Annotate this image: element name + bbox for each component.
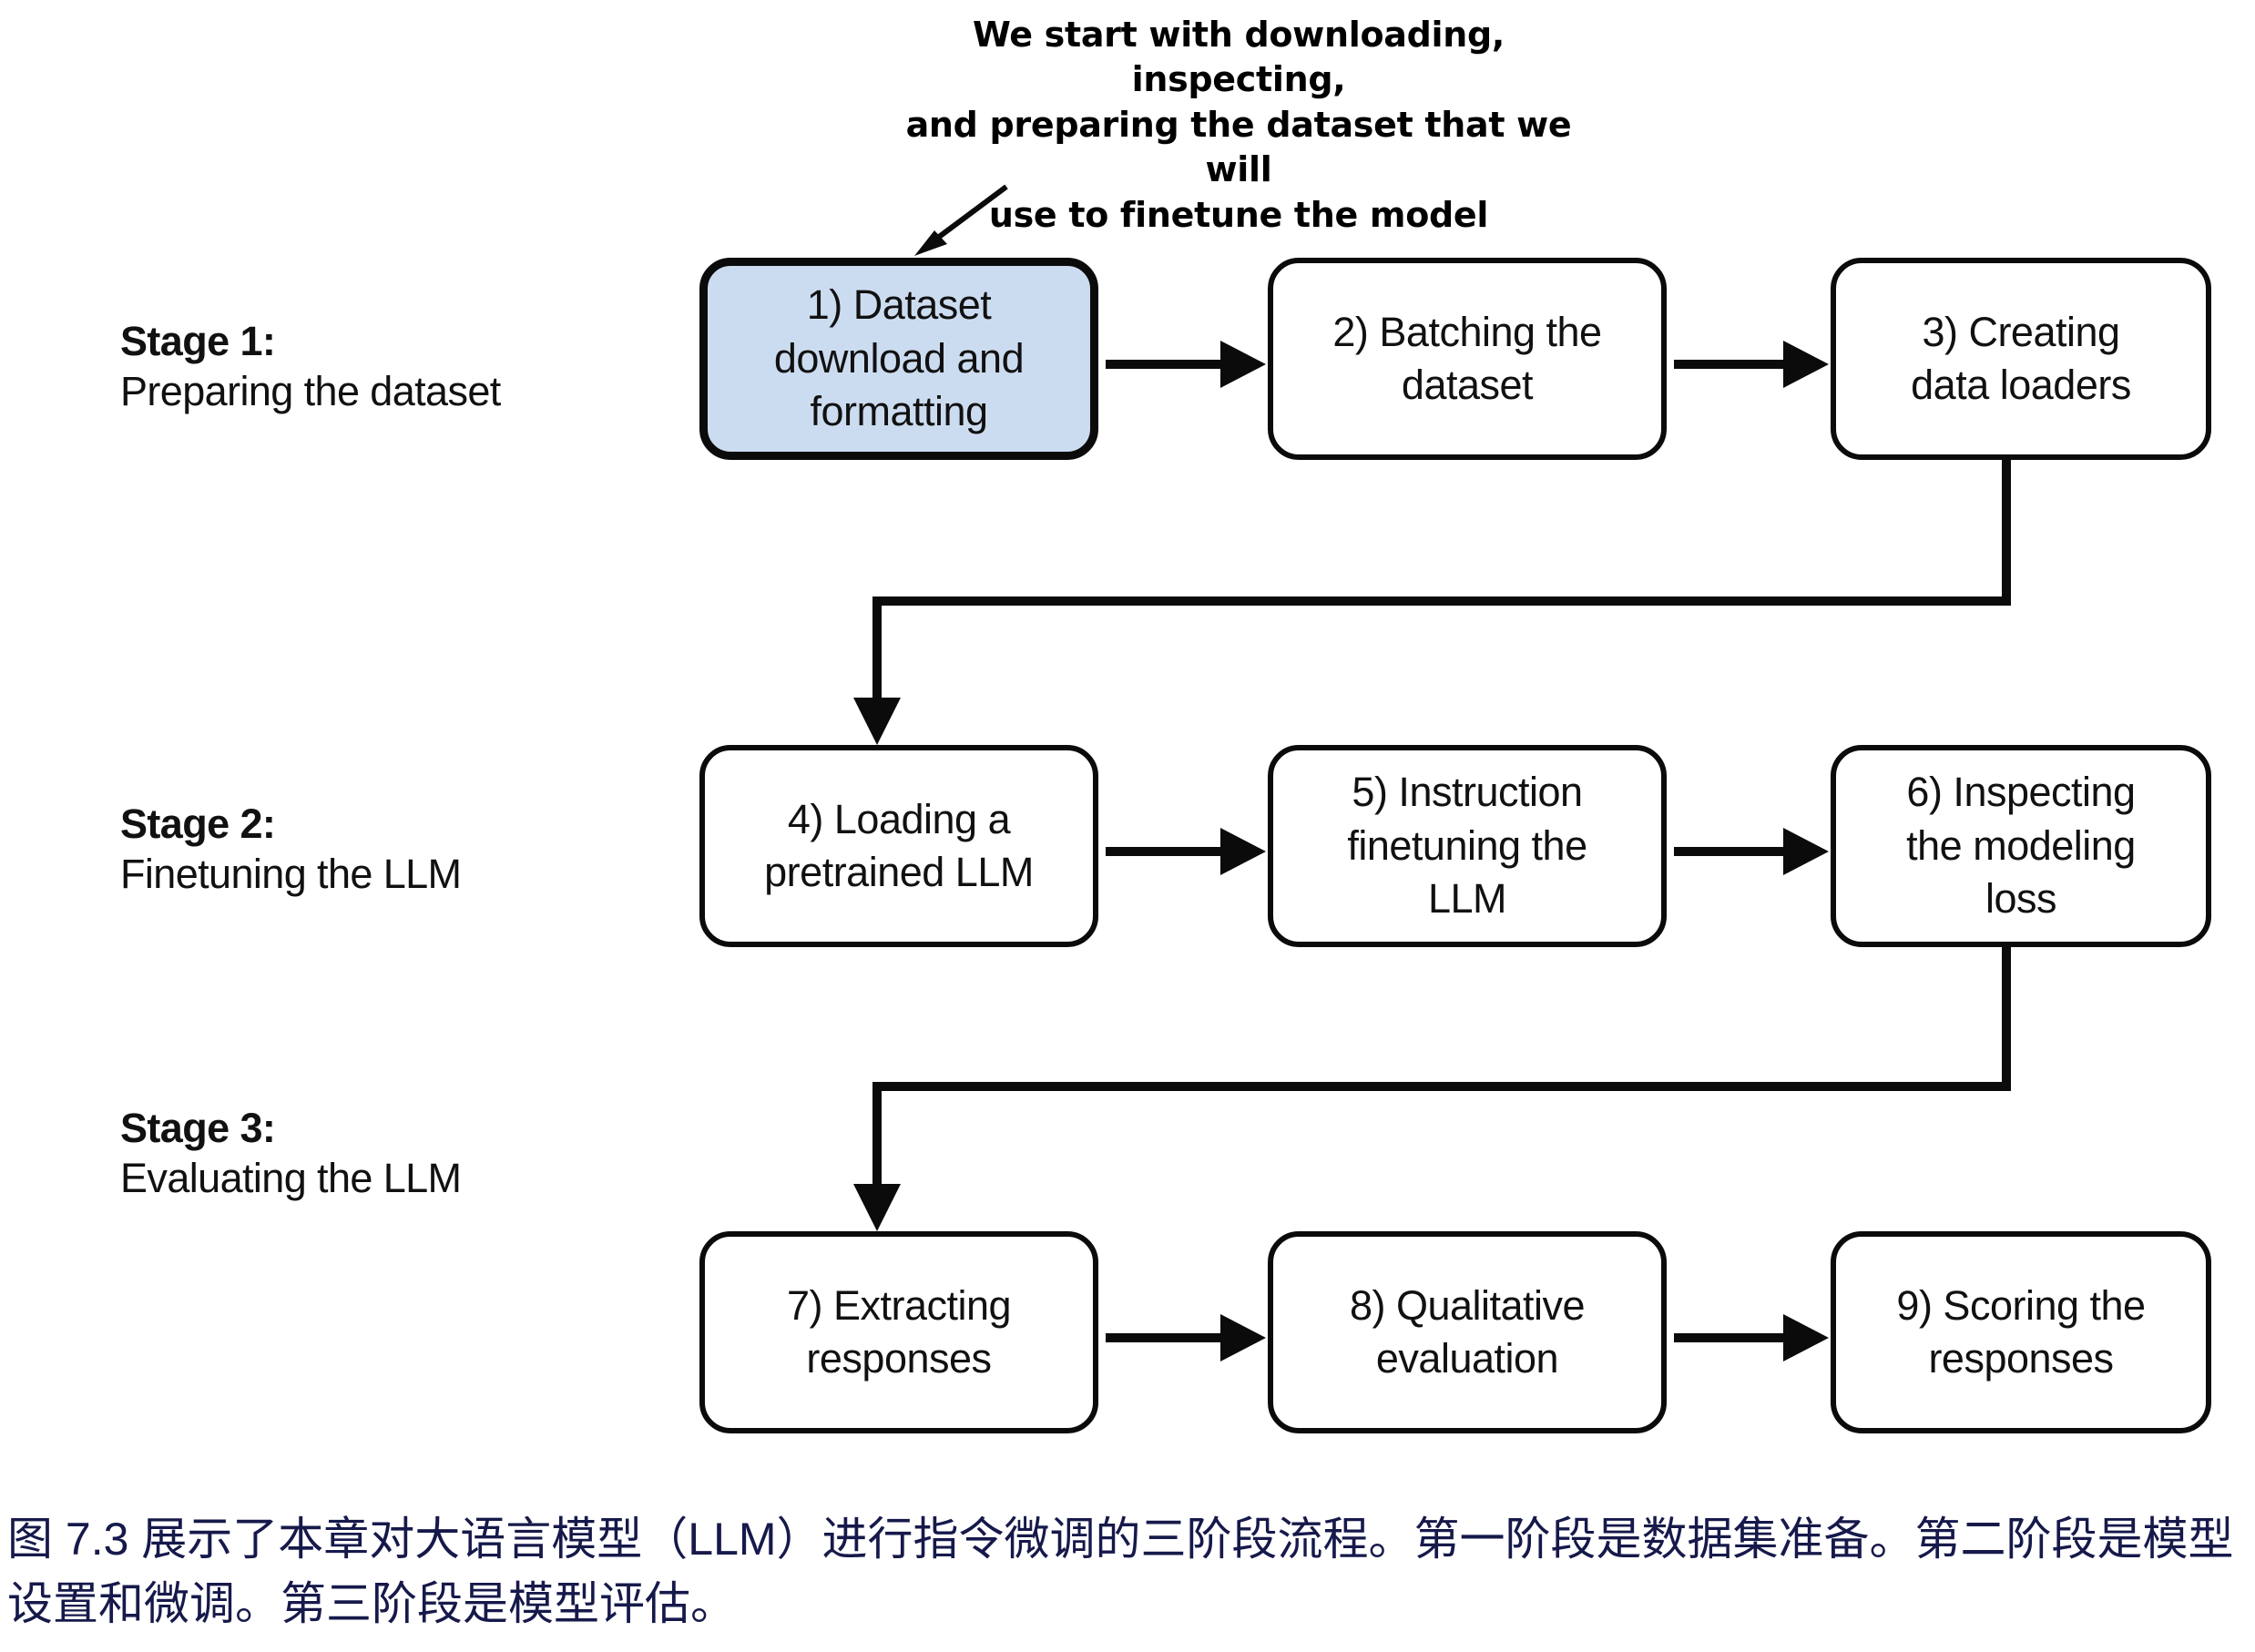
stage-3-subtitle: Evaluating the LLM	[120, 1154, 685, 1204]
step-box-2-line-2: dataset	[1332, 359, 1601, 413]
step-box-1[interactable]: 1) Dataset download and formatting	[699, 258, 1098, 460]
step-box-4[interactable]: 4) Loading a pretrained LLM	[699, 745, 1098, 947]
step-box-6-text: 6) Inspecting the modeling loss	[1906, 766, 2136, 926]
step-box-3-text: 3) Creating data loaders	[1911, 306, 2131, 413]
stage-label-1: Stage 1: Preparing the dataset	[120, 317, 685, 417]
step-box-4-line-1: 4) Loading a	[764, 793, 1034, 847]
step-box-3-line-2: data loaders	[1911, 359, 2131, 413]
step-box-6-line-1: 6) Inspecting	[1906, 766, 2136, 820]
step-box-7[interactable]: 7) Extracting responses	[699, 1231, 1098, 1433]
callout-note-line-1: We start with downloading, inspecting,	[874, 13, 1603, 103]
step-box-5[interactable]: 5) Instruction finetuning the LLM	[1268, 745, 1667, 947]
figure-caption: 图 7.3 展示了本章对大语言模型（LLM）进行指令微调的三阶段流程。第一阶段是…	[7, 1507, 2248, 1637]
step-box-3-line-1: 3) Creating	[1911, 306, 2131, 360]
step-box-1-line-1: 1) Dataset	[774, 279, 1024, 332]
callout-note-line-3: use to finetune the model	[874, 193, 1603, 238]
step-box-6-line-2: the modeling	[1906, 820, 2136, 873]
arrow-step4-to-step5	[1106, 828, 1266, 875]
step-box-2-text: 2) Batching the dataset	[1332, 306, 1601, 413]
step-box-9-line-2: responses	[1896, 1332, 2145, 1386]
step-box-1-text: 1) Dataset download and formatting	[774, 279, 1024, 439]
arrow-step8-to-step9	[1674, 1314, 1829, 1361]
step-box-8-line-1: 8) Qualitative	[1350, 1280, 1585, 1333]
step-box-1-line-3: formatting	[774, 385, 1024, 439]
stage-2-title: Stage 2:	[120, 800, 685, 850]
step-box-3[interactable]: 3) Creating data loaders	[1831, 258, 2211, 460]
arrow-step3-to-step4	[853, 460, 2006, 745]
step-box-8-line-2: evaluation	[1350, 1332, 1585, 1386]
step-box-9[interactable]: 9) Scoring the responses	[1831, 1231, 2211, 1433]
stage-label-3: Stage 3: Evaluating the LLM	[120, 1104, 685, 1204]
arrow-step2-to-step3	[1674, 341, 1829, 388]
step-box-8-text: 8) Qualitative evaluation	[1350, 1280, 1585, 1386]
step-box-4-line-2: pretrained LLM	[764, 846, 1034, 900]
arrow-step6-to-step7	[853, 947, 2006, 1231]
callout-note-line-2: and preparing the dataset that we will	[874, 103, 1603, 193]
step-box-8[interactable]: 8) Qualitative evaluation	[1268, 1231, 1667, 1433]
stage-3-title: Stage 3:	[120, 1104, 685, 1154]
step-box-5-line-2: finetuning the	[1347, 820, 1587, 873]
arrow-step7-to-step8	[1106, 1314, 1266, 1361]
arrow-step5-to-step6	[1674, 828, 1829, 875]
step-box-7-line-2: responses	[787, 1332, 1011, 1386]
step-box-6[interactable]: 6) Inspecting the modeling loss	[1831, 745, 2211, 947]
step-box-5-line-1: 5) Instruction	[1347, 766, 1587, 820]
step-box-2-line-1: 2) Batching the	[1332, 306, 1601, 360]
arrow-step1-to-step2	[1106, 341, 1266, 388]
step-box-5-text: 5) Instruction finetuning the LLM	[1347, 766, 1587, 926]
step-box-7-text: 7) Extracting responses	[787, 1280, 1011, 1386]
step-box-2[interactable]: 2) Batching the dataset	[1268, 258, 1667, 460]
step-box-6-line-3: loss	[1906, 872, 2136, 926]
step-box-1-line-2: download and	[774, 332, 1024, 386]
step-box-9-line-1: 9) Scoring the	[1896, 1280, 2145, 1333]
stage-1-subtitle: Preparing the dataset	[120, 367, 685, 417]
stage-2-subtitle: Finetuning the LLM	[120, 850, 685, 900]
step-box-7-line-1: 7) Extracting	[787, 1280, 1011, 1333]
callout-note: We start with downloading, inspecting, a…	[874, 13, 1603, 238]
stage-label-2: Stage 2: Finetuning the LLM	[120, 800, 685, 900]
step-box-9-text: 9) Scoring the responses	[1896, 1280, 2145, 1386]
step-box-5-line-3: LLM	[1347, 872, 1587, 926]
stage-1-title: Stage 1:	[120, 317, 685, 367]
step-box-4-text: 4) Loading a pretrained LLM	[764, 793, 1034, 900]
figure-flowchart: We start with downloading, inspecting, a…	[0, 0, 2255, 1652]
